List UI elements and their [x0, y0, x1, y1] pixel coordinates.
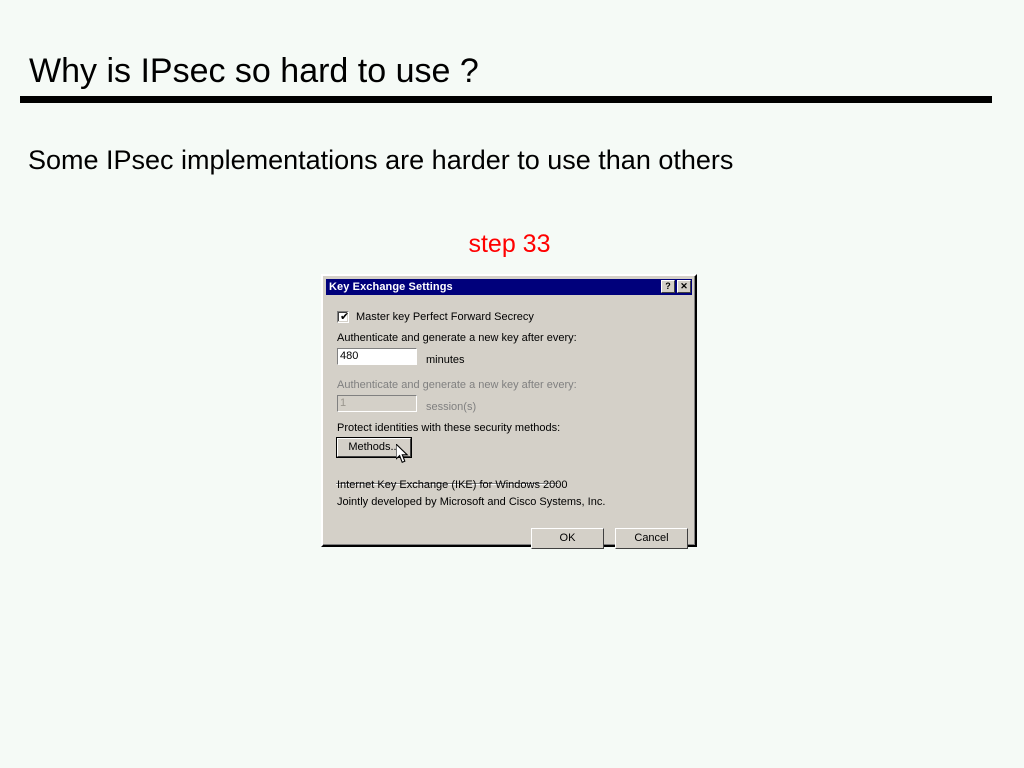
minutes-unit-label: minutes: [426, 354, 465, 366]
step-label: step 33: [0, 230, 1024, 259]
minutes-input[interactable]: 480: [337, 348, 417, 365]
sessions-unit-label: session(s): [426, 401, 476, 413]
pfs-checkbox-row[interactable]: ✔ Master key Perfect Forward Secrecy: [337, 311, 534, 323]
help-icon[interactable]: ?: [661, 280, 675, 293]
slide-subtitle: Some IPsec implementations are harder to…: [28, 145, 733, 176]
credit-line-1: Internet Key Exchange (IKE) for Windows …: [337, 479, 568, 491]
sessions-group-label: Authenticate and generate a new key afte…: [337, 379, 577, 391]
key-exchange-settings-dialog: Key Exchange Settings ? ✕ ✔ Master key P…: [321, 274, 697, 547]
title-divider-rule: [20, 96, 992, 103]
dialog-titlebar[interactable]: Key Exchange Settings ? ✕: [326, 279, 692, 295]
pfs-checkbox-label: Master key Perfect Forward Secrecy: [356, 311, 534, 323]
methods-group-label: Protect identities with these security m…: [337, 422, 560, 434]
minutes-group-label: Authenticate and generate a new key afte…: [337, 332, 577, 344]
ok-button[interactable]: OK: [531, 528, 604, 549]
step-label-text: step 33: [468, 230, 550, 259]
close-icon[interactable]: ✕: [677, 280, 691, 293]
credit-line-2: Jointly developed by Microsoft and Cisco…: [337, 496, 605, 508]
cancel-button[interactable]: Cancel: [615, 528, 688, 549]
sessions-input: 1: [337, 395, 417, 412]
dialog-body: ✔ Master key Perfect Forward Secrecy Aut…: [326, 298, 692, 542]
pfs-checkbox[interactable]: ✔: [337, 311, 349, 323]
checkmark-icon: ✔: [340, 311, 349, 323]
titlebar-button-group: ? ✕: [661, 280, 691, 293]
slide-title: Why is IPsec so hard to use ?: [29, 52, 479, 91]
dialog-title: Key Exchange Settings: [329, 281, 453, 293]
methods-button[interactable]: Methods...: [337, 438, 411, 457]
